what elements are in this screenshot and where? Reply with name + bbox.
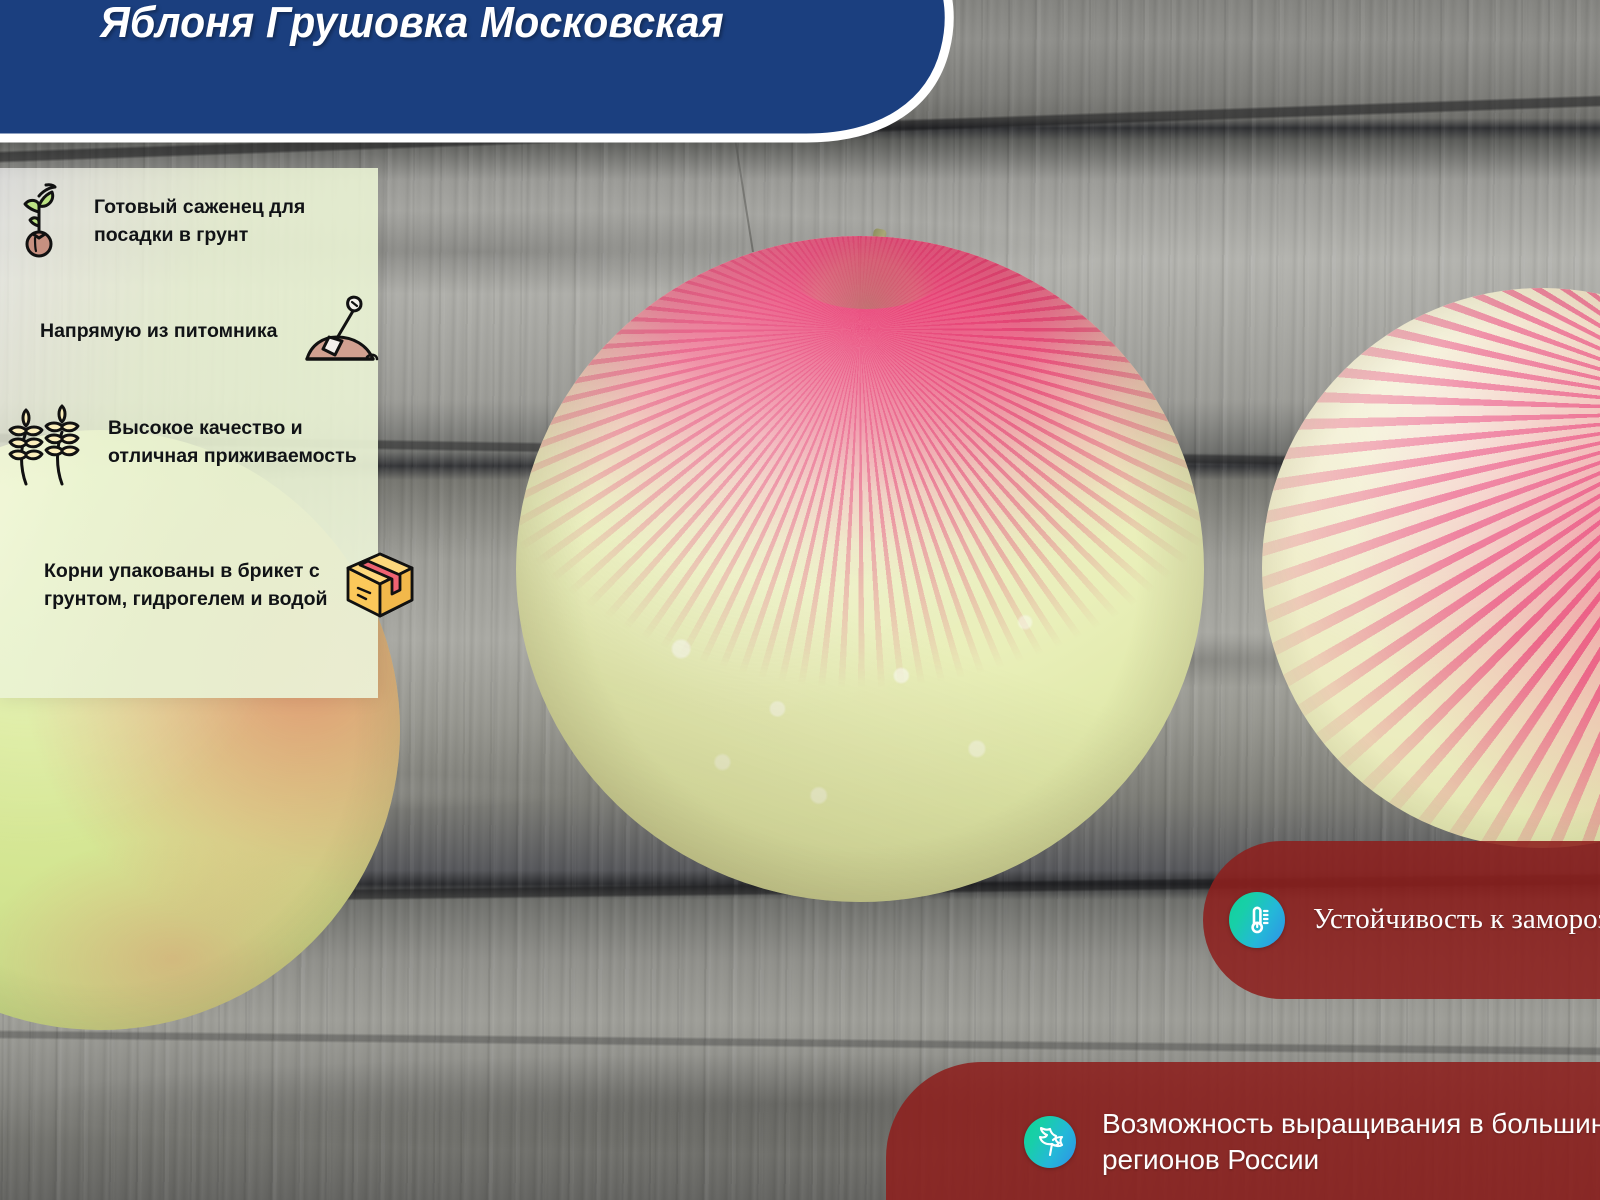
feature-panel: Готовый саженец для посадки в грунт Напр…	[0, 168, 378, 698]
wheat-stalks-icon	[0, 388, 92, 497]
maple-leaf-icon	[1024, 1116, 1076, 1168]
feature-label-nursery: Напрямую из питомника	[40, 318, 277, 346]
feature-label-seedling: Готовый саженец для посадки в грунт	[94, 194, 386, 249]
product-banner-image: Яблоня Грушовка Московская	[0, 0, 1600, 1200]
feature-item-seedling: Готовый саженец для посадки в грунт	[0, 176, 386, 268]
feature-label-quality: Высокое качество и отличная приживаемост…	[108, 415, 378, 470]
feature-label-packaging: Корни упакованы в брикет с грунтом, гидр…	[44, 558, 330, 613]
title-banner: Яблоня Грушовка Московская	[0, 0, 970, 138]
badge-frost-resistance: Устойчивость к заморозкам	[1203, 841, 1600, 999]
page-title: Яблоня Грушовка Московская	[100, 0, 724, 48]
apple-center-shading	[516, 236, 1204, 902]
apple-center	[516, 236, 1204, 902]
feature-item-packaging: Корни упакованы в брикет с грунтом, гидр…	[0, 526, 422, 646]
badge-frost-label: Устойчивость к заморозкам	[1313, 901, 1600, 938]
feature-item-quality: Высокое качество и отличная приживаемост…	[0, 380, 378, 505]
thermometer-icon	[1229, 892, 1285, 948]
package-box-icon	[338, 542, 422, 631]
badge-regions-label: Возможность выращивания в большинстве ре…	[1102, 1106, 1600, 1178]
shovel-in-soil-icon	[297, 287, 383, 378]
feature-item-nursery: Напрямую из питомника	[0, 286, 418, 378]
badge-regions: Возможность выращивания в большинстве ре…	[886, 1062, 1600, 1200]
seedling-icon	[8, 182, 70, 263]
